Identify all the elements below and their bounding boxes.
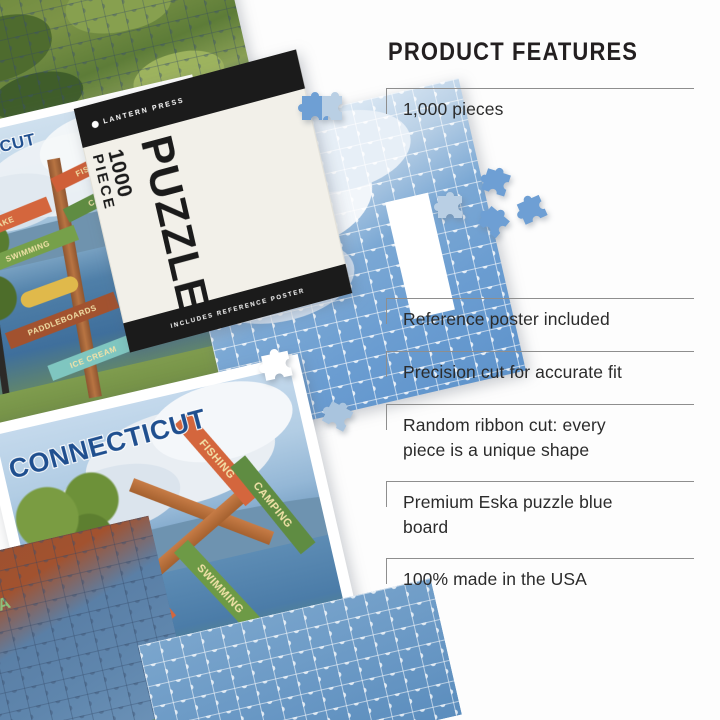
feature-rule bbox=[386, 298, 694, 299]
feature-rule bbox=[386, 481, 694, 482]
feature-text: Random ribbon cut: every piece is a uniq… bbox=[403, 413, 653, 463]
puzzle-piece-7 bbox=[322, 400, 356, 432]
feature-tick bbox=[386, 88, 387, 114]
feature-tick bbox=[386, 351, 387, 377]
product-feature-image: CONN FISHING LAKE CAMPING SWIMMING CANOE… bbox=[0, 0, 720, 720]
feature-tick bbox=[386, 481, 387, 507]
feature-text: 1,000 pieces bbox=[403, 97, 698, 122]
feature-rule bbox=[386, 404, 694, 405]
feature-tick bbox=[386, 298, 387, 324]
feature-tick bbox=[386, 558, 387, 584]
feature-rule bbox=[386, 88, 694, 89]
product-features-panel: PRODUCT FEATURES 1,000 pieces Reference … bbox=[386, 40, 702, 600]
feature-rule bbox=[386, 351, 694, 352]
feature-text: Premium Eska puzzle blue board bbox=[403, 490, 618, 540]
feature-rule bbox=[386, 558, 694, 559]
puzzle-piece-1 bbox=[296, 88, 348, 124]
page-title: PRODUCT FEATURES bbox=[388, 40, 664, 65]
feature-tick bbox=[386, 404, 387, 430]
puzzle-piece-6 bbox=[258, 346, 298, 382]
box-brand-name: LANTERN PRESS bbox=[103, 97, 186, 126]
lantern-press-logo-icon bbox=[91, 120, 99, 129]
feature-text: Reference poster included bbox=[403, 307, 698, 332]
feature-text: 100% made in the USA bbox=[403, 567, 698, 592]
feature-text: Precision cut for accurate fit bbox=[403, 360, 698, 385]
